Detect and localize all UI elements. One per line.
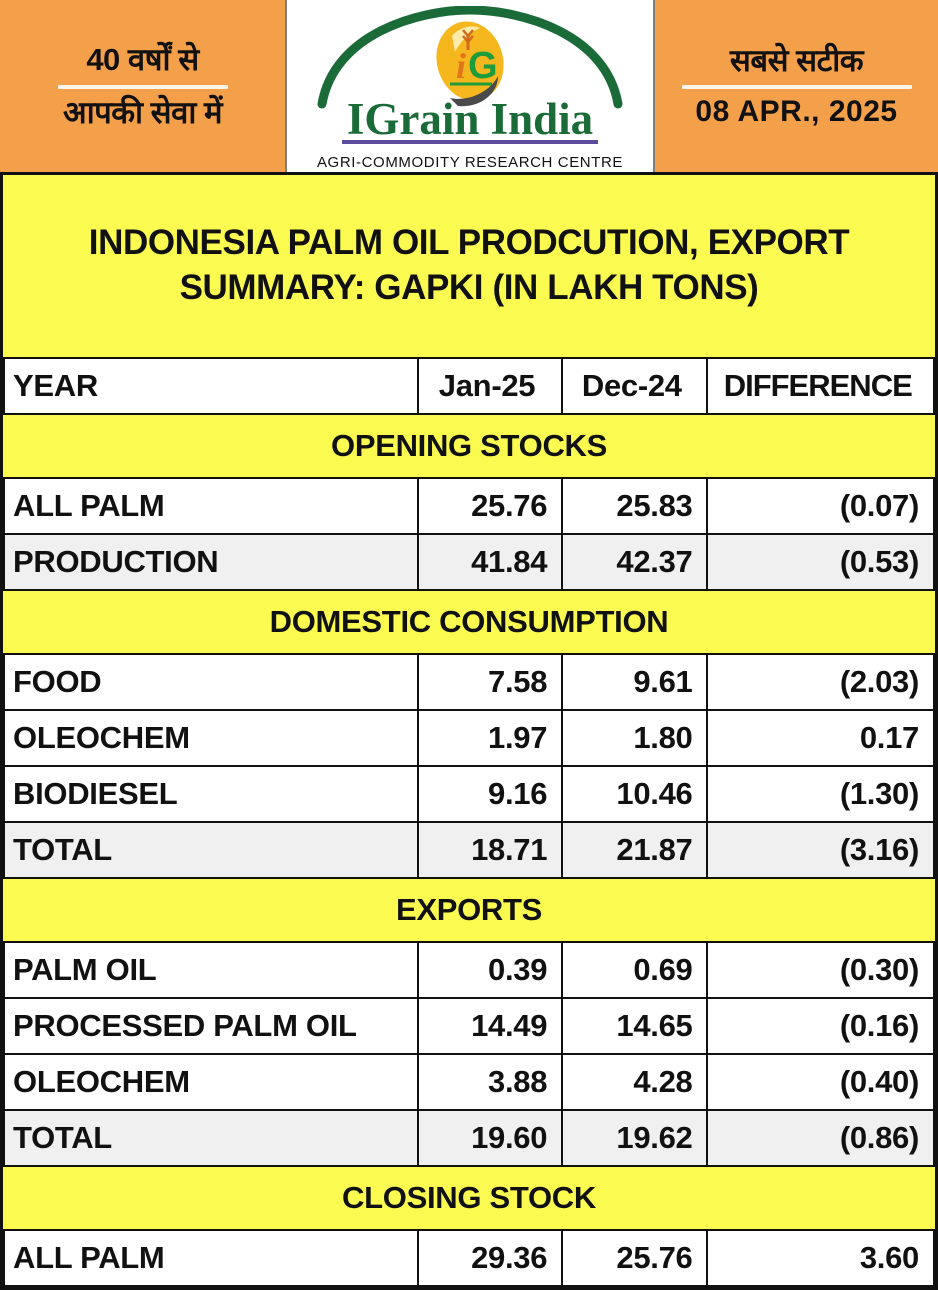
row-value-difference: (3.16) <box>707 822 934 878</box>
table-row: TOTAL19.6019.62(0.86) <box>4 1110 934 1166</box>
table-row: OLEOCHEM3.884.28(0.40) <box>4 1054 934 1110</box>
section-heading: OPENING STOCKS <box>4 414 934 478</box>
section-heading: DOMESTIC CONSUMPTION <box>4 590 934 654</box>
row-value-dec: 1.80 <box>562 710 707 766</box>
report-date: 08 APR., 2025 <box>695 95 897 129</box>
row-value-dec: 0.69 <box>562 942 707 998</box>
row-value-difference: (0.40) <box>707 1054 934 1110</box>
row-label: FOOD <box>4 654 418 710</box>
svg-text:IGrain India: IGrain India <box>347 94 593 144</box>
row-value-dec: 10.46 <box>562 766 707 822</box>
row-value-difference: (1.30) <box>707 766 934 822</box>
table-row: TOTAL18.7121.87(3.16) <box>4 822 934 878</box>
row-value-difference: 0.17 <box>707 710 934 766</box>
section-heading-row: OPENING STOCKS <box>4 414 934 478</box>
row-value-dec: 25.76 <box>562 1230 707 1286</box>
column-header-dec: Dec-24 <box>562 358 707 414</box>
table-row: PRODUCTION41.8442.37(0.53) <box>4 534 934 590</box>
header-right-panel: सबसे सटीक 08 APR., 2025 <box>655 0 938 172</box>
row-label: ALL PALM <box>4 1230 418 1286</box>
row-value-jan: 0.39 <box>418 942 562 998</box>
table-row: PALM OIL0.390.69(0.30) <box>4 942 934 998</box>
palm-oil-summary-table: INDONESIA PALM OIL PRODCUTION, EXPORT SU… <box>3 175 935 1287</box>
column-header-year: YEAR <box>4 358 418 414</box>
header-left-line1: 40 वर्षों से <box>86 42 198 78</box>
row-value-jan: 19.60 <box>418 1110 562 1166</box>
row-value-jan: 7.58 <box>418 654 562 710</box>
row-value-jan: 3.88 <box>418 1054 562 1110</box>
row-label: OLEOCHEM <box>4 1054 418 1110</box>
header-left-panel: 40 वर्षों से आपकी सेवा में <box>0 0 285 172</box>
row-value-jan: 14.49 <box>418 998 562 1054</box>
row-label: PROCESSED PALM OIL <box>4 998 418 1054</box>
row-value-dec: 19.62 <box>562 1110 707 1166</box>
row-label: PRODUCTION <box>4 534 418 590</box>
header-left-divider <box>58 85 228 89</box>
row-value-difference: (0.86) <box>707 1110 934 1166</box>
report-title-cell: INDONESIA PALM OIL PRODCUTION, EXPORT SU… <box>4 175 934 358</box>
svg-text:i: i <box>456 46 466 86</box>
row-value-jan: 41.84 <box>418 534 562 590</box>
brand-logo: i G IGrain India AGRI-COMMODITY RESEARCH… <box>285 0 655 172</box>
row-value-dec: 21.87 <box>562 822 707 878</box>
row-label: OLEOCHEM <box>4 710 418 766</box>
row-value-difference: 3.60 <box>707 1230 934 1286</box>
section-heading-row: CLOSING STOCK <box>4 1166 934 1230</box>
row-value-dec: 25.83 <box>562 478 707 534</box>
row-label: TOTAL <box>4 822 418 878</box>
report-title: INDONESIA PALM OIL PRODCUTION, EXPORT SU… <box>18 221 920 311</box>
report-sheet: i G IGrain India Pvt. Ltd +91 9350141815… <box>0 175 938 1290</box>
row-value-jan: 18.71 <box>418 822 562 878</box>
section-heading: CLOSING STOCK <box>4 1166 934 1230</box>
row-label: TOTAL <box>4 1110 418 1166</box>
row-value-difference: (0.07) <box>707 478 934 534</box>
table-row: FOOD7.589.61(2.03) <box>4 654 934 710</box>
column-header-jan: Jan-25 <box>418 358 562 414</box>
row-value-jan: 29.36 <box>418 1230 562 1286</box>
section-heading: EXPORTS <box>4 878 934 942</box>
brand-tagline: AGRI-COMMODITY RESEARCH CENTRE <box>317 154 623 171</box>
row-label: PALM OIL <box>4 942 418 998</box>
section-heading-row: EXPORTS <box>4 878 934 942</box>
row-value-dec: 4.28 <box>562 1054 707 1110</box>
row-value-difference: (0.30) <box>707 942 934 998</box>
row-value-jan: 25.76 <box>418 478 562 534</box>
svg-text:G: G <box>468 45 498 87</box>
header-right-divider <box>682 85 912 89</box>
row-label: BIODIESEL <box>4 766 418 822</box>
row-value-difference: (0.53) <box>707 534 934 590</box>
row-value-jan: 1.97 <box>418 710 562 766</box>
row-value-jan: 9.16 <box>418 766 562 822</box>
igrain-logo-icon: i G IGrain India <box>300 6 640 156</box>
row-label: ALL PALM <box>4 478 418 534</box>
header-left-line2: आपकी सेवा में <box>63 95 222 131</box>
section-heading-row: DOMESTIC CONSUMPTION <box>4 590 934 654</box>
table-row: BIODIESEL9.1610.46(1.30) <box>4 766 934 822</box>
row-value-difference: (0.16) <box>707 998 934 1054</box>
table-row: PROCESSED PALM OIL14.4914.65(0.16) <box>4 998 934 1054</box>
column-header-difference: DIFFERENCE <box>707 358 934 414</box>
table-body: INDONESIA PALM OIL PRODCUTION, EXPORT SU… <box>4 175 934 1286</box>
row-value-dec: 9.61 <box>562 654 707 710</box>
row-value-dec: 42.37 <box>562 534 707 590</box>
page-header: 40 वर्षों से आपकी सेवा में i G <box>0 0 938 175</box>
row-value-difference: (2.03) <box>707 654 934 710</box>
table-row: ALL PALM25.7625.83(0.07) <box>4 478 934 534</box>
table-row: ALL PALM29.3625.763.60 <box>4 1230 934 1286</box>
logo-graphic: i G IGrain India <box>300 6 640 156</box>
column-header-row: YEARJan-25Dec-24DIFFERENCE <box>4 358 934 414</box>
title-row: INDONESIA PALM OIL PRODCUTION, EXPORT SU… <box>4 175 934 358</box>
row-value-dec: 14.65 <box>562 998 707 1054</box>
header-right-tagline: सबसे सटीक <box>730 43 863 79</box>
table-row: OLEOCHEM1.971.800.17 <box>4 710 934 766</box>
